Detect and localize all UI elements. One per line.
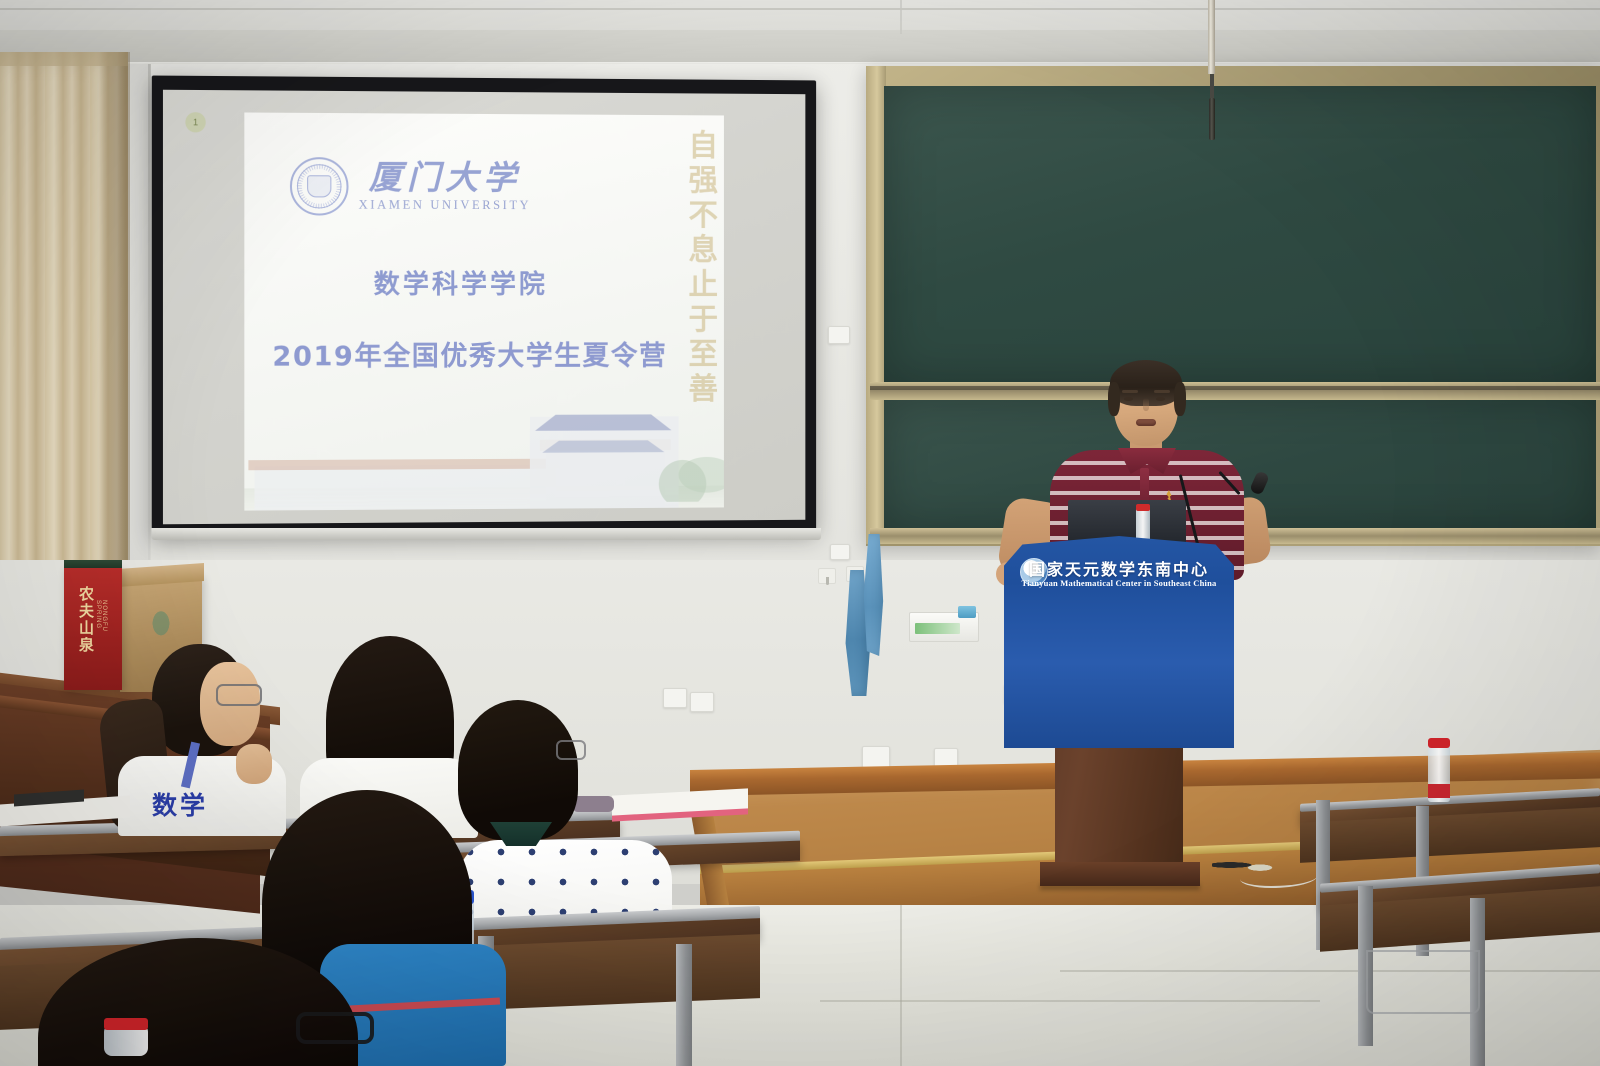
speaker-mouth (1136, 419, 1156, 426)
desk-row3-leg-2 (676, 944, 692, 1066)
slide-page-indicator: 1 (185, 112, 205, 132)
ceiling-hanging-rod (1208, 0, 1215, 74)
projection-screen-surface: 1 厦门大学 XIAMEN UNIVERSITY 数学科学学院 2019年全国优… (163, 90, 805, 525)
hanging-rod-tip (1209, 98, 1215, 140)
ceiling-panel-seam (0, 8, 1600, 10)
student-1-glasses-icon (216, 684, 262, 706)
xmu-name-chinese: 厦门大学 (369, 160, 521, 194)
wall-switch-upper[interactable] (828, 326, 850, 344)
campus-dormitory-roof (248, 459, 561, 471)
cardboard-carton-logo-icon (148, 608, 174, 642)
wall-hook-left-icon (818, 568, 836, 584)
desk-right-bookshelf-wire (1366, 950, 1480, 1014)
nongfu-brand-english: NONGFU SPRING (98, 600, 107, 660)
speaker-hair-left (1108, 382, 1120, 416)
floor-tile-seam-b (1060, 970, 1600, 972)
campus-building-artwork (244, 388, 724, 510)
wall-corner-edge (148, 64, 151, 584)
speaker-hair-right (1174, 382, 1186, 416)
blackboard-eraser (958, 606, 976, 618)
slide-title-event: 2019年全国优秀大学生夏令营 (244, 334, 694, 374)
student-3-glasses-icon (556, 740, 586, 760)
water-bottle-foreground-cap (104, 1018, 148, 1030)
podium-sign-english: Tianyuan Mathematical Center in Southeas… (1004, 578, 1234, 588)
xmu-wordmark: 厦门大学 XIAMEN UNIVERSITY (359, 160, 532, 213)
blackboard-middle-rail (870, 382, 1600, 400)
ceiling-panel-seam-vertical (900, 0, 902, 34)
projection-screen[interactable]: 1 厦门大学 XIAMEN UNIVERSITY 数学科学学院 2019年全国优… (152, 76, 816, 537)
xmu-logo-row: 厦门大学 XIAMEN UNIVERSITY (290, 151, 690, 223)
speaker-nose (1143, 398, 1149, 411)
projected-slide: 厦门大学 XIAMEN UNIVERSITY 数学科学学院 2019年全国优秀大… (244, 112, 724, 510)
wall-power-outlet-left[interactable] (862, 746, 890, 768)
podium-base (1040, 862, 1200, 886)
student-5-glasses-icon (296, 1012, 374, 1044)
nongfu-brand-chinese: 农夫山泉 (76, 586, 94, 672)
pencil-case[interactable] (572, 796, 614, 812)
blackboard-upper-panel[interactable] (884, 86, 1596, 382)
speaker-eye-right (1156, 397, 1165, 401)
xmu-name-english: XIAMEN UNIVERSITY (359, 198, 532, 214)
blackboard-rail-groove (870, 386, 1600, 390)
speaker-brow-right (1154, 390, 1170, 393)
water-bottle-cap-podium (1136, 504, 1150, 511)
wall-switch-mid[interactable] (830, 544, 850, 560)
campus-trees (655, 442, 724, 502)
campus-dormitory-row (254, 465, 555, 511)
lecture-hall-photo: 1 厦门大学 XIAMEN UNIVERSITY 数学科学学院 2019年全国优… (0, 0, 1600, 1066)
speaker-brow-left (1122, 390, 1138, 393)
water-bottle-cap-on-desk (1428, 738, 1450, 748)
student-1-shirt-text: 数学 (152, 786, 238, 816)
chalk-tray-label (915, 623, 960, 634)
podium-sign-chinese: 国家天元数学东南中心 (1004, 556, 1234, 580)
xmu-seal-icon (290, 157, 349, 216)
blackboard-frame-left-edge (866, 66, 886, 544)
speaker-eye-left (1124, 397, 1133, 401)
student-3-hair (458, 700, 578, 840)
floor-tile-seam-a (900, 905, 902, 1066)
wall-switch-panel-b[interactable] (690, 692, 714, 712)
projection-screen-bottom-bar (152, 528, 821, 540)
water-bottle-label (1428, 784, 1450, 798)
slide-subtitle-school: 数学科学学院 (244, 264, 674, 301)
seal-ring-lettering (292, 159, 347, 214)
floor-tile-seam-c (820, 1000, 1320, 1002)
student-1-hand (236, 744, 272, 784)
wall-switch-panel-a[interactable] (663, 688, 687, 708)
